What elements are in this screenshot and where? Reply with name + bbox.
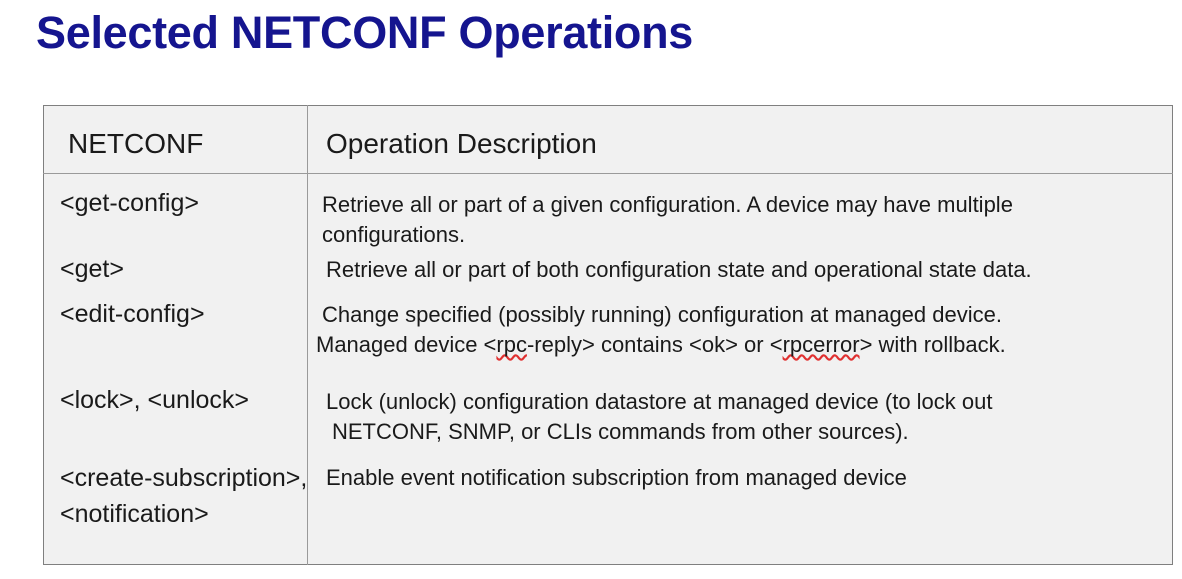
table-row: <lock>, <unlock> Lock (unlock) configura… <box>44 374 1173 451</box>
header-cell-description: Operation Description <box>308 106 1173 174</box>
operation-name: <get-config> <box>44 174 307 221</box>
operation-cell: <create-subscription>, <notification> <box>44 451 308 565</box>
table-row: <get> Retrieve all or part of both confi… <box>44 251 1173 296</box>
table-row: <edit-config> Change specified (possibly… <box>44 296 1173 374</box>
description-line: Change specified (possibly running) conf… <box>308 296 1172 330</box>
description-cell: Enable event notification subscription f… <box>308 451 1173 565</box>
netconf-operations-table: NETCONF Operation Description <get-confi… <box>43 105 1173 565</box>
description-cell: Change specified (possibly running) conf… <box>308 296 1173 374</box>
header-label-operation-description: Operation Description <box>308 106 1172 160</box>
operation-cell: <lock>, <unlock> <box>44 374 308 451</box>
text-segment: -reply> contains <ok> or < <box>527 332 783 357</box>
page-title: Selected NETCONF Operations <box>36 6 693 60</box>
description-line: Retrieve all or part of both configurati… <box>308 251 1172 285</box>
operation-cell: <get-config> <box>44 174 308 252</box>
description-cell: Retrieve all or part of both configurati… <box>308 251 1173 296</box>
description-line-with-spellcheck: Managed device <rpc-reply> contains <ok>… <box>308 330 1172 360</box>
operation-cell: <get> <box>44 251 308 296</box>
misspelled-word-rpc: rpc <box>496 332 527 357</box>
table-row: <get-config> Retrieve all or part of a g… <box>44 174 1173 252</box>
description-cell: Lock (unlock) configuration datastore at… <box>308 374 1173 451</box>
operation-name: <edit-config> <box>44 296 307 332</box>
header-cell-operation: NETCONF <box>44 106 308 174</box>
description-line: configurations. <box>308 220 1172 250</box>
table-row: <create-subscription>, <notification> En… <box>44 451 1173 565</box>
operation-cell: <edit-config> <box>44 296 308 374</box>
description-line: Retrieve all or part of a given configur… <box>308 174 1172 220</box>
description-line: Enable event notification subscription f… <box>308 451 1172 493</box>
operation-name: <notification> <box>44 496 307 532</box>
text-segment: Managed device < <box>316 332 496 357</box>
operation-name: <get> <box>44 251 307 287</box>
description-line: NETCONF, SNMP, or CLIs commands from oth… <box>308 417 1172 447</box>
operation-name: <lock>, <unlock> <box>44 374 307 418</box>
operation-name: <create-subscription>, <box>44 451 307 496</box>
table-header-row: NETCONF Operation Description <box>44 106 1173 174</box>
header-label-netconf: NETCONF <box>44 106 307 160</box>
description-line: Lock (unlock) configuration datastore at… <box>308 374 1172 417</box>
misspelled-word-rpcerror: rpcerror <box>783 332 860 357</box>
text-segment: > with rollback. <box>860 332 1006 357</box>
description-cell: Retrieve all or part of a given configur… <box>308 174 1173 252</box>
